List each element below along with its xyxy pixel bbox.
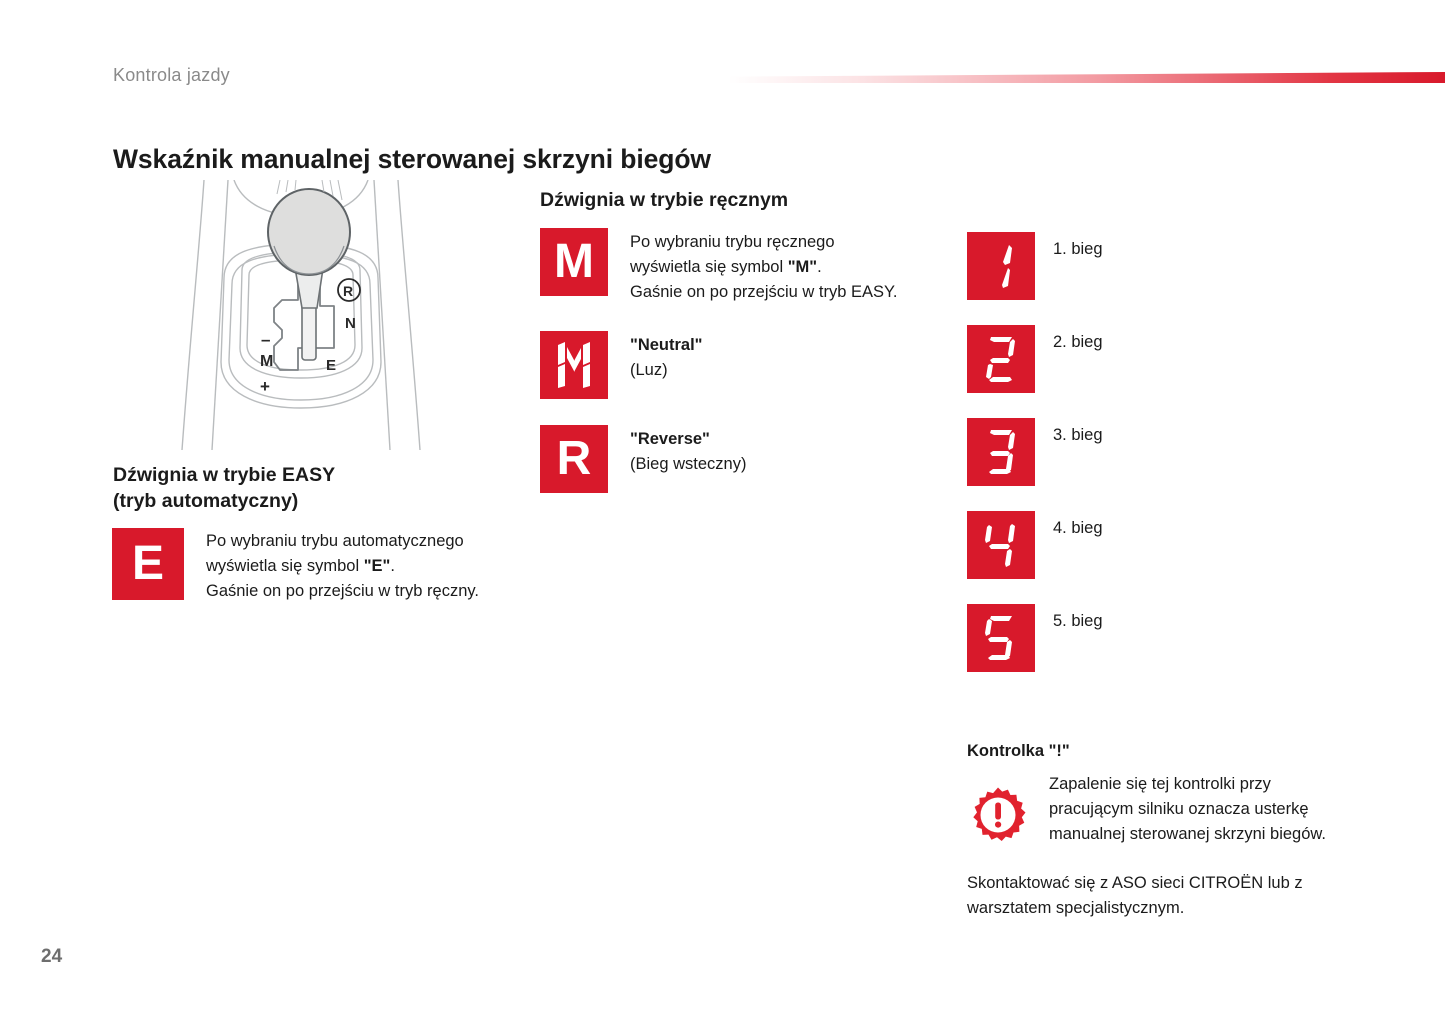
warning-lamp-heading: Kontrolka "!" (967, 742, 1070, 761)
gear-tile-1 (967, 232, 1035, 300)
manual-m-line-2-prefix: wyświetla się symbol (630, 258, 788, 276)
manual-mode-list: M Po wybraniu trybu ręcznego wyświetla s… (540, 228, 970, 515)
manual-row-m: M Po wybraniu trybu ręcznego wyświetla s… (540, 228, 970, 305)
page-header: Kontrola jazdy (0, 0, 1445, 110)
symbol-tile-n (540, 331, 608, 399)
manual-description-n: "Neutral" (Luz) (630, 333, 703, 383)
manual-m-line-3: Gaśnie on po przejściu w tryb EASY. (630, 283, 898, 301)
manual-m-line-2-bold: "M" (788, 258, 817, 276)
easy-desc-line-2-prefix: wyświetla się symbol (206, 557, 364, 575)
seven-segment-digit-5-icon (984, 613, 1018, 663)
gear-label-3: 3. bieg (1053, 424, 1103, 446)
gear-label-1: 1. bieg (1053, 238, 1103, 260)
gear-indicator-list: 1. bieg 2. bieg (967, 232, 1267, 697)
seven-segment-digit-4-icon (984, 520, 1018, 570)
manual-description-m: Po wybraniu trybu ręcznego wyświetla się… (630, 230, 898, 305)
warning-lamp-body: Zapalenie się tej kontrolki przy pracują… (1049, 772, 1359, 847)
symbol-tile-e: E (112, 528, 184, 600)
symbol-glyph-r: R (557, 435, 592, 483)
manual-m-line-1: Po wybraniu trybu ręcznego (630, 233, 835, 251)
gear-row-4: 4. bieg (967, 511, 1267, 579)
gear-tile-5 (967, 604, 1035, 672)
gear-warning-exclamation-icon (967, 784, 1029, 846)
seven-segment-digit-3-icon (984, 427, 1018, 477)
gear-row-2: 2. bieg (967, 325, 1267, 393)
easy-mode-row: E Po wybraniu trybu automatycznego wyświ… (112, 528, 532, 604)
symbol-tile-r: R (540, 425, 608, 493)
easy-desc-line-3: Gaśnie on po przejściu w tryb ręczny. (206, 582, 479, 600)
lever-label-plus: + (260, 377, 270, 396)
gear-tile-2 (967, 325, 1035, 393)
gear-tile-3 (967, 418, 1035, 486)
lever-label-manual: M (260, 353, 273, 370)
gear-row-3: 3. bieg (967, 418, 1267, 486)
manual-row-r: R "Reverse" (Bieg wsteczny) (540, 425, 970, 493)
gear-lever-drawing: N E M – + R (176, 180, 426, 450)
manual-m-line-2-suffix: . (817, 258, 822, 276)
manual-n-line-2: (Luz) (630, 361, 668, 379)
symbol-glyph-m: M (554, 238, 594, 286)
gear-label-4: 4. bieg (1053, 517, 1103, 539)
chapter-title: Kontrola jazdy (113, 65, 230, 86)
lever-label-neutral: N (345, 315, 356, 332)
gear-tile-4 (967, 511, 1035, 579)
manual-mode-heading: Dźwignia w trybie ręcznym (540, 187, 960, 213)
easy-desc-line-2-bold: "E" (364, 557, 391, 575)
easy-desc-line-2-suffix: . (390, 557, 395, 575)
symbol-tile-m: M (540, 228, 608, 296)
seven-segment-digit-2-icon (984, 334, 1018, 384)
gear-label-2: 2. bieg (1053, 331, 1103, 353)
warning-lamp-footer: Skontaktować się z ASO sieci CITROËN lub… (967, 871, 1387, 921)
manual-n-line-1: "Neutral" (630, 336, 703, 354)
gear-lever-illustration: N E M – + R (176, 180, 426, 450)
symbol-glyph-n-segmented (556, 341, 592, 389)
gear-row-1: 1. bieg (967, 232, 1267, 300)
lever-label-minus: – (261, 330, 270, 349)
gear-row-5: 5. bieg (967, 604, 1267, 672)
manual-r-line-2: (Bieg wsteczny) (630, 455, 746, 473)
lever-label-reverse: R (338, 279, 360, 301)
page-number: 24 (41, 946, 62, 968)
page-title: Wskaźnik manualnej sterowanej skrzyni bi… (113, 144, 711, 175)
easy-desc-line-1: Po wybraniu trybu automatycznego (206, 532, 464, 550)
header-accent-rule (728, 72, 1445, 83)
gear-label-5: 5. bieg (1053, 610, 1103, 632)
lever-label-easy: E (326, 357, 336, 374)
warning-lamp-row: Zapalenie się tej kontrolki przy pracują… (967, 772, 1367, 847)
seven-segment-digit-1-icon (986, 241, 1016, 291)
manual-description-r: "Reverse" (Bieg wsteczny) (630, 427, 746, 477)
manual-row-n: "Neutral" (Luz) (540, 331, 970, 399)
symbol-glyph-e: E (132, 540, 164, 588)
easy-mode-description: Po wybraniu trybu automatycznego wyświet… (206, 529, 479, 604)
easy-mode-heading: Dźwignia w trybie EASY (tryb automatyczn… (113, 462, 513, 514)
manual-r-line-1: "Reverse" (630, 430, 710, 448)
svg-text:R: R (343, 283, 353, 299)
